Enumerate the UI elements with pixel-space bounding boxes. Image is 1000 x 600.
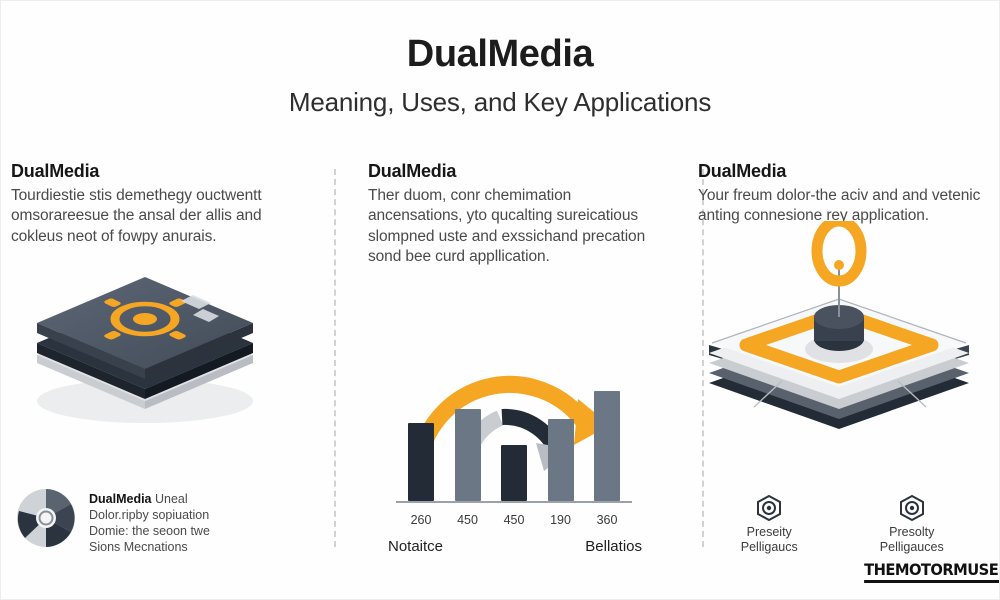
disc-legend-title: DualMedia xyxy=(89,492,152,506)
tick-label-0: 260 xyxy=(408,513,434,527)
watermark: THEMOTORMUSE. xyxy=(864,560,1000,583)
bar-3 xyxy=(548,419,574,501)
node-label-line-1: Preseity xyxy=(741,525,798,540)
chart-category-labels: Notaitce Bellatios xyxy=(388,538,642,555)
tick-label-2: 450 xyxy=(501,513,527,527)
node-label-line-2: Pelligaucs xyxy=(741,540,798,555)
bar-4 xyxy=(594,391,620,501)
isometric-platform-beacon-icon xyxy=(694,221,984,431)
disc-legend-sub: Uneal xyxy=(155,492,188,506)
column-3-heading: DualMedia xyxy=(698,161,983,182)
column-2-body: Ther duom, conr chemimation ancensations… xyxy=(368,186,646,268)
columns-container: DualMedia Tourdiestie stis demethegy ouc… xyxy=(1,161,1000,561)
isometric-slab-gear-icon xyxy=(17,249,267,439)
chart-label-left: Notaitce xyxy=(388,538,443,555)
column-3-artwork: Preseity Pelligaucs Presolty Pelligauce xyxy=(698,227,983,561)
column-1-body: Tourdiestie stis demethegy ouctwentt oms… xyxy=(11,186,310,247)
node-list: Preseity Pelligaucs Presolty Pelligauce xyxy=(698,494,983,555)
tick-label-4: 360 xyxy=(594,513,620,527)
page-subtitle: Meaning, Uses, and Key Applications xyxy=(1,87,999,118)
column-2-heading: DualMedia xyxy=(368,161,646,182)
segmented-disc-icon xyxy=(15,487,77,549)
column-3: DualMedia Your freum dolor-the aciv and … xyxy=(668,161,1000,561)
disc-legend-line-4: Sions Mecnations xyxy=(89,539,210,555)
node-label: Preseity Pelligaucs xyxy=(741,525,798,555)
bar-1 xyxy=(455,409,481,501)
node-item: Presolty Pelligauces xyxy=(852,494,972,555)
bar-0 xyxy=(408,423,434,501)
node-label: Presolty Pelligauces xyxy=(880,525,944,555)
disc-legend-text: DualMedia Uneal Dolor.ripby sopiuation D… xyxy=(89,487,210,555)
bar-chart: 260 450 450 190 360 Notaitce Bellatios xyxy=(382,327,648,557)
beacon-core xyxy=(834,260,844,270)
node-item: Preseity Pelligaucs xyxy=(709,494,829,555)
column-1-artwork: DualMedia Uneal Dolor.ripby sopiuation D… xyxy=(11,247,310,561)
tick-label-1: 450 xyxy=(455,513,481,527)
column-1-heading: DualMedia xyxy=(11,161,310,182)
chart-label-right: Bellatios xyxy=(585,538,642,555)
column-2-artwork: 260 450 450 190 360 Notaitce Bellatios xyxy=(368,268,646,561)
page-title: DualMedia xyxy=(1,35,999,75)
disc-legend-line-3: Domie: the seoon twe xyxy=(89,523,210,539)
chart-tick-labels: 260 450 450 190 360 xyxy=(408,513,620,527)
column-1: DualMedia Tourdiestie stis demethegy ouc… xyxy=(1,161,334,561)
disc-legend-line-1: DualMedia Uneal xyxy=(89,491,210,507)
header: DualMedia Meaning, Uses, and Key Applica… xyxy=(1,1,999,118)
tick-label-3: 190 xyxy=(548,513,574,527)
column-2: DualMedia Ther duom, conr chemimation an… xyxy=(334,161,668,561)
bar-2 xyxy=(501,445,527,501)
hexagon-target-icon xyxy=(755,494,783,522)
hexagon-target-icon xyxy=(898,494,926,522)
infographic-canvas: DualMedia Meaning, Uses, and Key Applica… xyxy=(0,0,1000,600)
chart-axis-line xyxy=(396,501,632,503)
chart-bars xyxy=(408,381,620,501)
disc-legend: DualMedia Uneal Dolor.ripby sopiuation D… xyxy=(15,487,210,555)
node-label-line-2: Pelligauces xyxy=(880,540,944,555)
disc-legend-line-2: Dolor.ripby sopiuation xyxy=(89,507,210,523)
node-label-line-1: Presolty xyxy=(880,525,944,540)
